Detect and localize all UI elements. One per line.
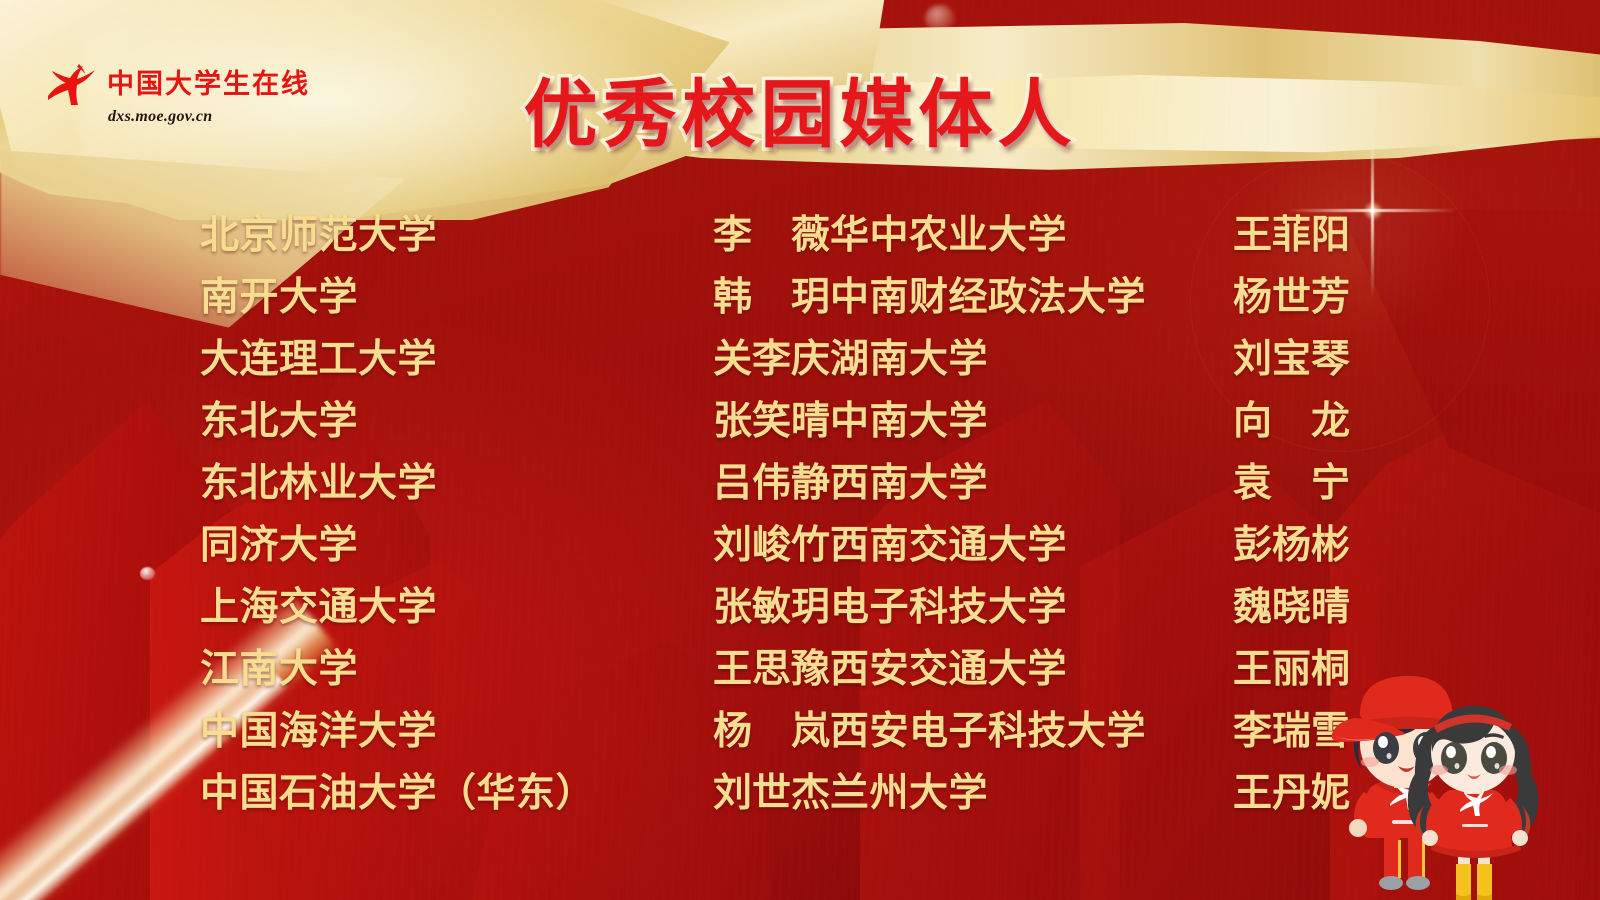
university-name: 同济大学 xyxy=(200,526,358,565)
honoree-cell-left: 中国石油大学（华东）刘世杰 xyxy=(200,774,830,813)
honoree-name: 王思豫 xyxy=(645,650,830,689)
honoree-cell-right: 西南交通大学彭杨彬 xyxy=(830,526,1350,565)
honoree-cell-right: 兰州大学王丹妮 xyxy=(830,774,1350,813)
university-name: 华中农业大学 xyxy=(830,216,1067,255)
university-name: 东北大学 xyxy=(200,402,358,441)
honoree-name: 关李庆 xyxy=(645,340,830,379)
honoree-name: 向 龙 xyxy=(1190,402,1350,441)
honoree-cell-left: 中国海洋大学杨 岚 xyxy=(200,712,830,751)
dxs-mascot-pair xyxy=(1288,636,1588,900)
honoree-cell-right: 中南财经政法大学杨世芳 xyxy=(830,278,1350,317)
honoree-cell-left: 同济大学刘峻竹 xyxy=(200,526,830,565)
honoree-cell-right: 中南大学向 龙 xyxy=(830,402,1350,441)
honoree-name: 王菲阳 xyxy=(1190,216,1350,255)
honoree-cell-left: 上海交通大学张敏玥 xyxy=(200,588,830,627)
university-name: 中国石油大学（华东） xyxy=(200,774,595,813)
university-name: 中南财经政法大学 xyxy=(830,278,1146,317)
university-name: 西安交通大学 xyxy=(830,650,1067,689)
university-name: 江南大学 xyxy=(200,650,358,689)
honoree-cell-left: 东北林业大学吕伟静 xyxy=(200,464,830,503)
honoree-cell-left: 江南大学王思豫 xyxy=(200,650,830,689)
honoree-name: 杨 岚 xyxy=(645,712,830,751)
university-name: 西南交通大学 xyxy=(830,526,1067,565)
honoree-name: 刘峻竹 xyxy=(645,526,830,565)
honoree-row: 东北林业大学吕伟静西南大学袁 宁 xyxy=(0,464,1600,526)
university-name: 西南大学 xyxy=(830,464,988,503)
honoree-cell-right: 西安电子科技大学李瑞雪 xyxy=(830,712,1350,751)
honoree-name: 吕伟静 xyxy=(645,464,830,503)
honoree-row: 北京师范大学李 薇华中农业大学王菲阳 xyxy=(0,216,1600,278)
honoree-name: 张敏玥 xyxy=(645,588,830,627)
honoree-cell-right: 西南大学袁 宁 xyxy=(830,464,1350,503)
university-name: 中南大学 xyxy=(830,402,988,441)
university-name: 电子科技大学 xyxy=(830,588,1067,627)
honoree-row: 大连理工大学关李庆湖南大学刘宝琴 xyxy=(0,340,1600,402)
honoree-name: 杨世芳 xyxy=(1190,278,1350,317)
honoree-name: 刘宝琴 xyxy=(1190,340,1350,379)
university-name: 西安电子科技大学 xyxy=(830,712,1146,751)
honoree-cell-right: 电子科技大学魏晓晴 xyxy=(830,588,1350,627)
honoree-name: 韩 玥 xyxy=(645,278,830,317)
honoree-name: 张笑晴 xyxy=(645,402,830,441)
honoree-name: 刘世杰 xyxy=(645,774,830,813)
honoree-cell-left: 南开大学韩 玥 xyxy=(200,278,830,317)
university-name: 东北林业大学 xyxy=(200,464,437,503)
university-name: 中国海洋大学 xyxy=(200,712,437,751)
honoree-cell-right: 华中农业大学王菲阳 xyxy=(830,216,1350,255)
page-title: 优秀校园媒体人 xyxy=(0,78,1600,152)
university-name: 上海交通大学 xyxy=(200,588,437,627)
honoree-cell-left: 大连理工大学关李庆 xyxy=(200,340,830,379)
poster-root: 中国大学生在线 dxs.moe.gov.cn 优秀校园媒体人 北京师范大学李 薇… xyxy=(0,0,1600,900)
university-name: 北京师范大学 xyxy=(200,216,437,255)
honoree-row: 南开大学韩 玥中南财经政法大学杨世芳 xyxy=(0,278,1600,340)
honoree-name: 李 薇 xyxy=(645,216,830,255)
honoree-name: 袁 宁 xyxy=(1190,464,1350,503)
university-name: 兰州大学 xyxy=(830,774,988,813)
honoree-name: 彭杨彬 xyxy=(1190,526,1350,565)
honoree-name: 魏晓晴 xyxy=(1190,588,1350,627)
university-name: 南开大学 xyxy=(200,278,358,317)
honoree-row: 东北大学张笑晴中南大学向 龙 xyxy=(0,402,1600,464)
honoree-cell-left: 北京师范大学李 薇 xyxy=(200,216,830,255)
honoree-cell-left: 东北大学张笑晴 xyxy=(200,402,830,441)
university-name: 大连理工大学 xyxy=(200,340,437,379)
honoree-cell-right: 西安交通大学王丽桐 xyxy=(830,650,1350,689)
university-name: 湖南大学 xyxy=(830,340,988,379)
honoree-row: 同济大学刘峻竹西南交通大学彭杨彬 xyxy=(0,526,1600,588)
sparkle-star-icon xyxy=(1372,210,1374,212)
honoree-cell-right: 湖南大学刘宝琴 xyxy=(830,340,1350,379)
